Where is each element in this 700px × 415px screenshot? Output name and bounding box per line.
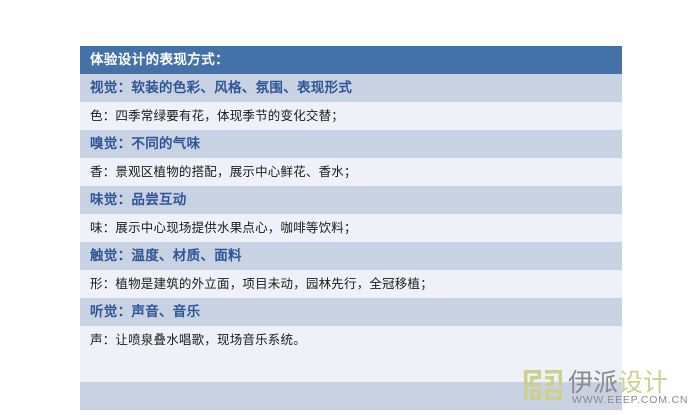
table-header-cell: 体验设计的表现方式： xyxy=(80,46,622,74)
watermark-url: WWW.EEEP.COM.CN xyxy=(572,394,688,406)
table-row: 嗅觉：不同的气味 xyxy=(80,130,622,158)
table-row: 色：四季常绿要有花，体现季节的变化交替； xyxy=(80,102,622,130)
watermark-brand-green: 设计 xyxy=(618,370,668,395)
table-body: 体验设计的表现方式： 视觉：软装的色彩、风格、氛围、表现形式 色：四季常绿要有花… xyxy=(80,46,622,410)
table-row: 味：展示中心现场提供水果点心，咖啡等饮料； xyxy=(80,214,622,242)
detail-cell-flavor: 味：展示中心现场提供水果点心，咖啡等饮料； xyxy=(80,214,622,242)
detail-cell-color: 色：四季常绿要有花，体现季节的变化交替； xyxy=(80,102,622,130)
table-row: 声：让喷泉叠水唱歌，现场音乐系统。 xyxy=(80,326,622,354)
category-cell-smell: 嗅觉：不同的气味 xyxy=(80,130,622,158)
table-row: 味觉：品尝互动 xyxy=(80,186,622,214)
watermark: 伊派设计 WWW.EEEP.COM.CN xyxy=(524,368,700,412)
table-row: 听觉：声音、音乐 xyxy=(80,298,622,326)
detail-cell-fragrance: 香：景观区植物的搭配，展示中心鲜花、香水； xyxy=(80,158,622,186)
category-cell-vision: 视觉：软装的色彩、风格、氛围、表现形式 xyxy=(80,74,622,102)
table-row: 形：植物是建筑的外立面，项目未动，园林先行，全冠移植； xyxy=(80,270,622,298)
slide-canvas: 体验设计的表现方式： 视觉：软装的色彩、风格、氛围、表现形式 色：四季常绿要有花… xyxy=(0,0,700,415)
watermark-brand: 伊派设计 xyxy=(568,368,668,396)
table-row: 触觉：温度、材质、面料 xyxy=(80,242,622,270)
eeep-logo-icon xyxy=(524,370,562,400)
watermark-brand-dark: 伊派 xyxy=(568,370,618,395)
table-row: 视觉：软装的色彩、风格、氛围、表现形式 xyxy=(80,74,622,102)
category-cell-taste: 味觉：品尝互动 xyxy=(80,186,622,214)
table-header-row: 体验设计的表现方式： xyxy=(80,46,622,74)
detail-cell-sound: 声：让喷泉叠水唱歌，现场音乐系统。 xyxy=(80,326,622,354)
detail-cell-form: 形：植物是建筑的外立面，项目未动，园林先行，全冠移植； xyxy=(80,270,622,298)
category-cell-hearing: 听觉：声音、音乐 xyxy=(80,298,622,326)
category-cell-touch: 触觉：温度、材质、面料 xyxy=(80,242,622,270)
table-row: 香：景观区植物的搭配，展示中心鲜花、香水； xyxy=(80,158,622,186)
experience-design-table: 体验设计的表现方式： 视觉：软装的色彩、风格、氛围、表现形式 色：四季常绿要有花… xyxy=(80,46,622,410)
